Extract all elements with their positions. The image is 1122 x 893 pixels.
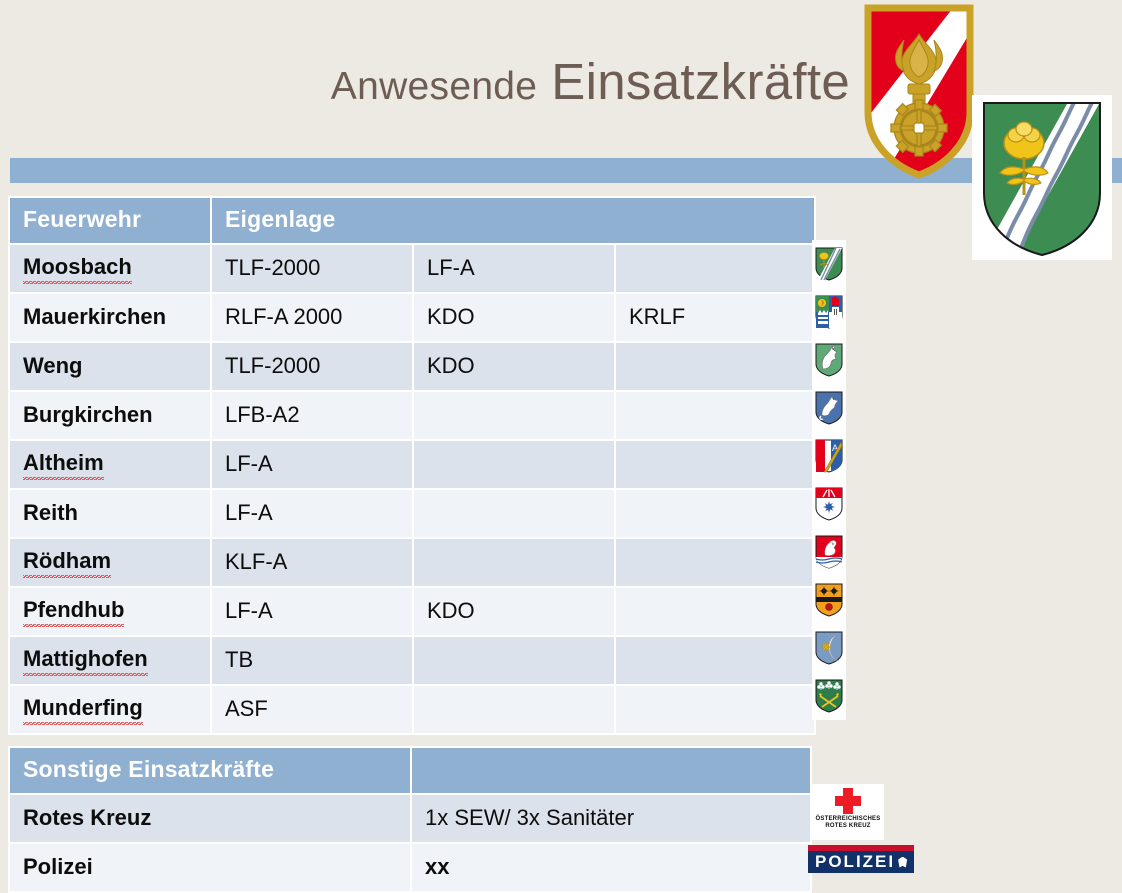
cell-vehicle-2 <box>414 637 614 684</box>
cell-vehicle-2: KDO <box>414 343 614 390</box>
cell-vehicle-1: TB <box>212 637 412 684</box>
brigade-name-text: Mattighofen <box>23 646 148 674</box>
cell-vehicle-1: RLF-A 2000 <box>212 294 412 341</box>
shield-mattighofen-icon <box>812 624 846 672</box>
shield-altheim-icon: A <box>812 432 846 480</box>
brigade-name-text: Pfendhub <box>23 597 124 625</box>
cell-vehicle-3 <box>616 637 814 684</box>
cell-brigade-name: Burgkirchen <box>10 392 210 439</box>
table-row: AltheimLF-A <box>10 441 814 488</box>
cell-vehicle-2: KDO <box>414 294 614 341</box>
red-cross-icon <box>835 788 861 814</box>
brigade-name-text: Burgkirchen <box>23 402 153 427</box>
brigade-name-text: Moosbach <box>23 254 132 282</box>
cell-brigade-name: Rödham <box>10 539 210 586</box>
table-row: PfendhubLF-AKDO <box>10 588 814 635</box>
cell-vehicle-1: TLF-2000 <box>212 245 412 292</box>
shield-reith-icon <box>812 480 846 528</box>
cell-vehicle-3 <box>616 245 814 292</box>
column-header-eigenlage: Eigenlage <box>212 198 814 243</box>
page-title: AnwesendeEinsatzkräfte <box>0 52 850 132</box>
shield-pfendhub-icon <box>812 576 846 624</box>
brigade-name-text: Munderfing <box>23 695 143 723</box>
brigade-name-text: Reith <box>23 500 78 525</box>
cell-vehicle-3 <box>616 539 814 586</box>
cell-brigade-name: Pfendhub <box>10 588 210 635</box>
cell-vehicle-2 <box>414 686 614 733</box>
shield-burgkirchen-icon <box>812 384 846 432</box>
table-row: ReithLF-A <box>10 490 814 537</box>
table-row: Rotes Kreuz1x SEW/ 3x Sanitäter <box>10 795 810 842</box>
cell-organisation-name: Polizei <box>10 844 410 891</box>
table-header-row: Sonstige Einsatzkräfte <box>10 748 810 793</box>
cell-organisation-name: Rotes Kreuz <box>10 795 410 842</box>
table-header-row: Feuerwehr Eigenlage <box>10 198 814 243</box>
cell-vehicle-3 <box>616 343 814 390</box>
cell-vehicle-2: LF-A <box>414 245 614 292</box>
cell-vehicle-3 <box>616 392 814 439</box>
oesterreichisches-rotes-kreuz-logo-icon: ÖSTERREICHISCHES ROTES KREUZ <box>812 784 884 840</box>
table-row: RödhamKLF-A <box>10 539 814 586</box>
redcross-logo-line-2: ROTES KREUZ <box>812 823 884 830</box>
other-forces-table: Sonstige Einsatzkräfte Rotes Kreuz1x SEW… <box>8 746 812 893</box>
cell-vehicle-2: KDO <box>414 588 614 635</box>
shield-moosbach-icon <box>812 240 846 288</box>
cell-vehicle-1: LF-A <box>212 588 412 635</box>
cell-vehicle-1: ASF <box>212 686 412 733</box>
table-row: MunderfingASF <box>10 686 814 733</box>
municipality-coat-of-arms-icon <box>972 95 1112 260</box>
brigade-name-text: Altheim <box>23 450 104 478</box>
cell-vehicle-1: LF-A <box>212 441 412 488</box>
polizei-logo-icon: POLIZEI <box>808 845 914 873</box>
polizei-logo-label: POLIZEI <box>815 852 895 872</box>
cell-brigade-name: Weng <box>10 343 210 390</box>
cell-vehicle-1: LF-A <box>212 490 412 537</box>
cell-vehicle-2 <box>414 490 614 537</box>
table-row: WengTLF-2000KDO <box>10 343 814 390</box>
table-row: MauerkirchenRLF-A 2000KDOKRLF <box>10 294 814 341</box>
brigade-name-text: Weng <box>23 353 82 378</box>
shield-roedham-icon <box>812 528 846 576</box>
cell-vehicle-2 <box>414 539 614 586</box>
brigade-name-text: Rödham <box>23 548 111 576</box>
column-header-feuerwehr: Feuerwehr <box>10 198 210 243</box>
cell-brigade-name: Munderfing <box>10 686 210 733</box>
shield-munderfing-icon <box>812 672 846 720</box>
shield-mauerkirchen-icon <box>812 288 846 336</box>
table-row: BurgkirchenLFB-A2 <box>10 392 814 439</box>
table-row: Polizeixx <box>10 844 810 891</box>
cell-brigade-name: Reith <box>10 490 210 537</box>
cell-brigade-name: Altheim <box>10 441 210 488</box>
cell-brigade-name: Mattighofen <box>10 637 210 684</box>
cell-brigade-name: Mauerkirchen <box>10 294 210 341</box>
fire-brigade-table: Feuerwehr Eigenlage MoosbachTLF-2000LF-A… <box>8 196 816 735</box>
page-title-part-2: Einsatzkräfte <box>551 53 850 110</box>
polizei-eagle-emblem-icon <box>898 857 907 868</box>
table-row: MattighofenTB <box>10 637 814 684</box>
cell-vehicle-1: KLF-A <box>212 539 412 586</box>
cell-brigade-name: Moosbach <box>10 245 210 292</box>
page-title-part-1: Anwesende <box>331 65 538 108</box>
cell-vehicle-3 <box>616 441 814 488</box>
cell-vehicle-2 <box>414 392 614 439</box>
municipal-shield-column: A <box>812 240 846 720</box>
cell-vehicle-3 <box>616 686 814 733</box>
cell-vehicle-1: TLF-2000 <box>212 343 412 390</box>
cell-vehicle-3 <box>616 588 814 635</box>
column-header-sonstige-einsatzkraefte: Sonstige Einsatzkräfte <box>10 748 410 793</box>
cell-vehicle-2 <box>414 441 614 488</box>
cell-organisation-resources: 1x SEW/ 3x Sanitäter <box>412 795 810 842</box>
column-header-blank <box>412 748 810 793</box>
cell-organisation-resources: xx <box>412 844 810 891</box>
table-row: MoosbachTLF-2000LF-A <box>10 245 814 292</box>
brigade-name-text: Mauerkirchen <box>23 304 166 329</box>
shield-weng-icon <box>812 336 846 384</box>
cell-vehicle-1: LFB-A2 <box>212 392 412 439</box>
cell-vehicle-3 <box>616 490 814 537</box>
austrian-fire-service-badge-icon <box>864 4 974 179</box>
cell-vehicle-3: KRLF <box>616 294 814 341</box>
redcross-logo-line-1: ÖSTERREICHISCHES <box>812 816 884 823</box>
